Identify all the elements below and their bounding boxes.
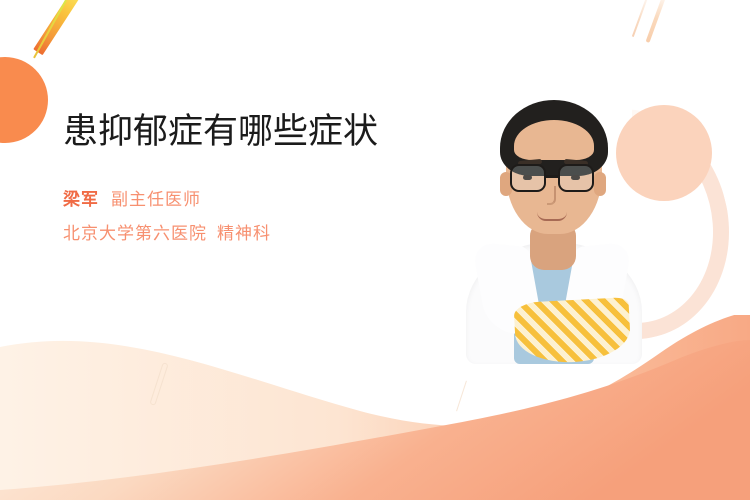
doctor-ear-right: [594, 172, 606, 196]
doctor-job-title: 副主任医师: [111, 190, 201, 209]
doctor-byline: 梁军副主任医师: [63, 191, 423, 208]
doctor-affiliation: 北京大学第六医院精神科: [63, 225, 423, 242]
top-left-yellow-stroke-icon: [33, 0, 67, 58]
doctor-mouth: [537, 212, 567, 221]
text-block: 患抑郁症有哪些症状 梁军副主任医师 北京大学第六医院精神科: [63, 115, 423, 242]
doctor-portrait: [452, 62, 652, 362]
glasses-lens-right: [558, 164, 594, 192]
glasses-lens-left: [510, 164, 546, 192]
top-right-peach-stroke-icon: [646, 0, 669, 43]
doctor-intro-card: 患抑郁症有哪些症状 梁军副主任医师 北京大学第六医院精神科: [0, 0, 750, 500]
bottom-left-outline-stroke-icon: [149, 362, 168, 406]
orange-circle-decoration: [0, 57, 48, 143]
top-left-orange-stroke-icon: [33, 0, 81, 55]
department-name: 精神科: [217, 224, 271, 243]
bottom-center-thin-stroke-icon: [456, 381, 467, 412]
hospital-name: 北京大学第六医院: [63, 224, 207, 243]
page-title: 患抑郁症有哪些症状: [63, 115, 423, 149]
glasses-bridge: [546, 175, 558, 178]
doctor-name: 梁军: [63, 190, 99, 209]
background-wave-salmon: [0, 340, 750, 500]
doctor-nose: [547, 186, 556, 205]
top-right-peach-thin-stroke-icon: [632, 0, 650, 37]
